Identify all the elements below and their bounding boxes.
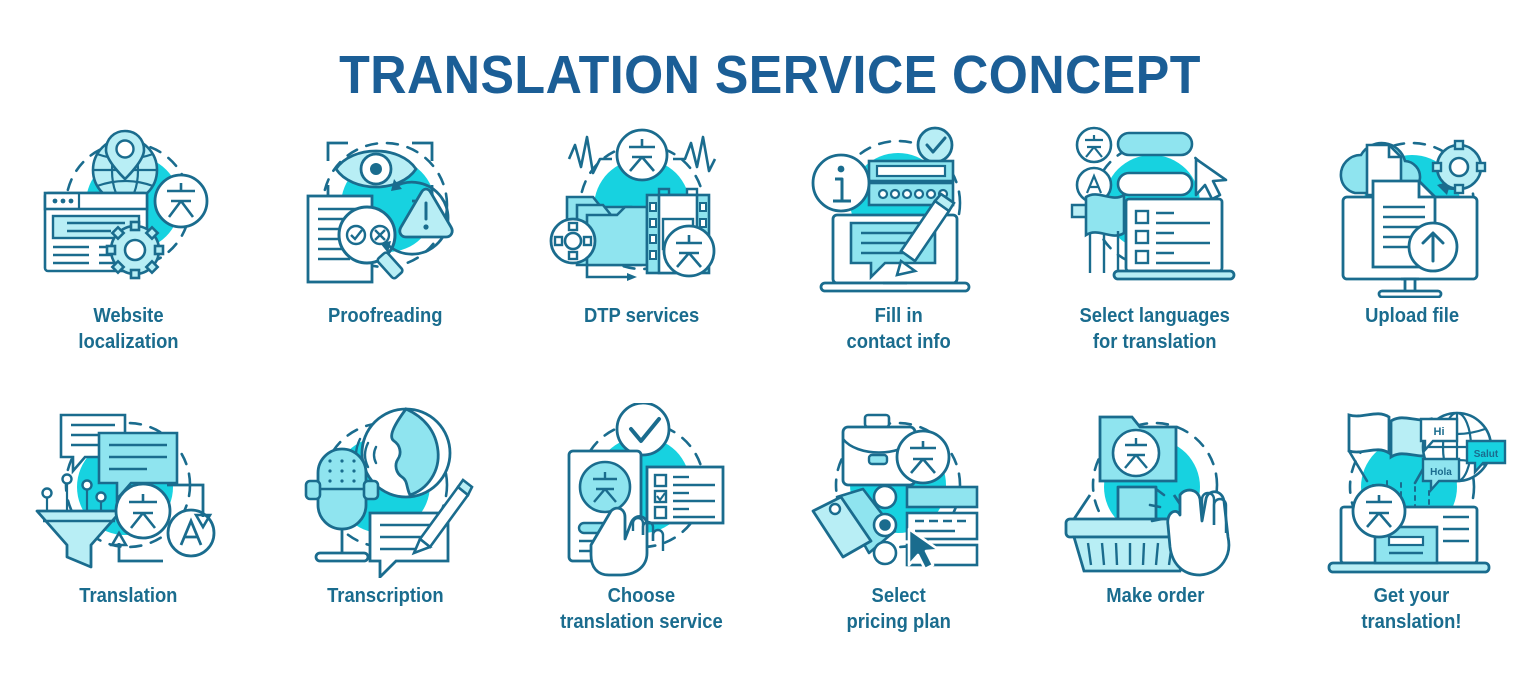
translate-character-circle-icon [155,175,207,227]
icon-card-fill-in-contact-info[interactable]: Fill in contact info [770,120,1027,400]
letter-a-circle-icon [168,510,214,556]
choose-translation-service-icon [542,400,742,580]
gear-icon [551,219,595,263]
laptop-icon [1114,199,1234,279]
page-title: TRANSLATION SERVICE CONCEPT [54,44,1486,106]
icon-card-translation[interactable]: Translation [0,400,257,680]
radio-buttons-icon [874,486,896,564]
translate-character-circle-icon [1353,485,1405,537]
icon-card-choose-translation-service[interactable]: Choose translation service [513,400,770,680]
bubble-salut-text: Salut [1473,449,1498,460]
bubble-hola-text: Hola [1430,467,1452,478]
up-arrow-circle-icon [1409,223,1457,271]
translate-character-circle-icon [897,431,949,483]
icon-label: Website localization [78,304,178,355]
check-circle-icon [617,403,669,455]
icon-card-transcription[interactable]: Transcription [257,400,514,680]
flag-icon [1072,194,1124,273]
translate-character-circle-icon [116,484,170,538]
icon-label: Fill in contact info [846,304,950,355]
icon-card-dtp-services[interactable]: DTP services [513,120,770,400]
icon-label: Choose translation service [560,584,723,635]
icon-card-upload-file[interactable]: Upload file [1283,120,1540,400]
info-circle-icon [813,155,869,211]
get-your-translation-icon: Hi Salut Hola [1312,400,1512,580]
icon-grid: Website localization [0,120,1540,680]
checkbox-list-panel-icon [647,467,723,523]
translate-character-circle-icon [617,130,667,180]
fill-in-contact-info-icon [798,120,998,300]
translation-icon [28,400,228,580]
icon-card-proofreading[interactable]: Proofreading [257,120,514,400]
folder-icon [1100,417,1176,481]
upload-file-icon [1312,120,1512,300]
proofreading-icon [285,120,485,300]
icon-card-get-your-translation[interactable]: Hi Salut Hola [1283,400,1540,680]
icon-card-make-order[interactable]: Make order [1027,400,1284,680]
icon-label: Translation [79,584,177,610]
icon-card-select-pricing-plan[interactable]: Select pricing plan [770,400,1027,680]
translate-character-circle-icon [580,462,630,512]
icon-label: Select pricing plan [846,584,950,635]
icon-label: Proofreading [328,304,442,330]
bubble-hi-text: Hi [1433,426,1444,438]
dtp-services-icon [542,120,742,300]
icon-label: Upload file [1365,304,1459,330]
icon-label: Get your translation! [1362,584,1462,635]
translate-character-circle-icon [1077,128,1111,162]
icon-card-select-languages[interactable]: Select languages for translation [1027,120,1284,400]
select-pricing-plan-icon [798,400,998,580]
translate-character-circle-icon [1113,430,1159,476]
make-order-icon [1055,400,1255,580]
poster-root: TRANSLATION SERVICE CONCEPT [0,0,1540,700]
icon-card-website-localization[interactable]: Website localization [0,120,257,400]
icon-label: Select languages for translation [1080,304,1230,355]
transcription-icon [285,400,485,580]
gear-icon [107,222,163,278]
cursor-arrow-icon [1196,159,1226,199]
translate-character-circle-icon-2 [664,226,714,276]
icon-label: DTP services [584,304,699,330]
check-circle-icon [918,128,952,162]
icon-label: Transcription [327,584,444,610]
icon-label: Make order [1106,584,1204,610]
select-languages-icon [1055,120,1255,300]
website-localization-icon [28,120,228,300]
